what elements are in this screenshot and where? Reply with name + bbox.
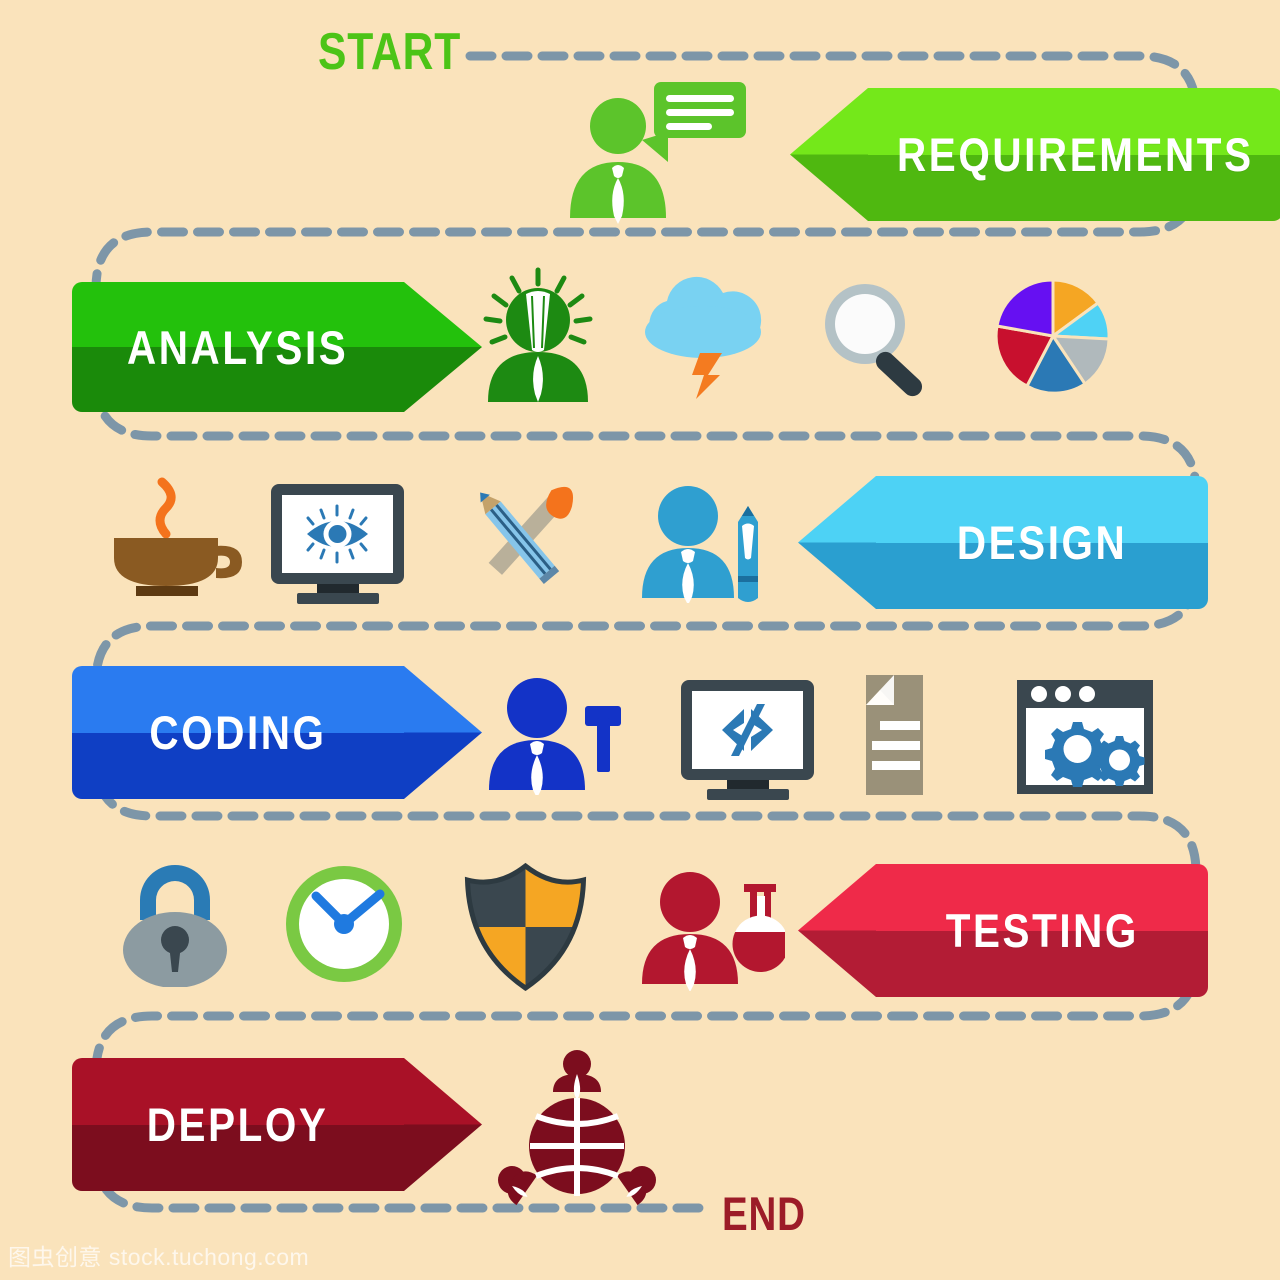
banner-tip: [404, 282, 482, 412]
stage-banner-testing[interactable]: TESTING: [798, 864, 1208, 997]
stage-label-coding: CODING: [149, 705, 326, 760]
stage-banner-analysis[interactable]: ANALYSIS: [72, 282, 482, 412]
coffee-cup-icon: [100, 476, 250, 601]
stage-label-deploy: DEPLOY: [147, 1097, 329, 1152]
pie-chart-icon: [993, 276, 1113, 396]
banner-tip: [404, 666, 482, 799]
shield-icon: [463, 862, 588, 992]
stage-banner-requirements[interactable]: REQUIREMENTS: [790, 88, 1210, 221]
banner-tip: [798, 476, 876, 609]
magnifier-icon: [815, 278, 945, 398]
banner-tip: [798, 864, 876, 997]
banner-body: DEPLOY: [72, 1058, 404, 1191]
clock-icon: [282, 862, 407, 987]
start-label: START: [318, 22, 461, 82]
banner-body: TESTING: [876, 864, 1208, 997]
stage-banner-coding[interactable]: CODING: [72, 666, 482, 799]
stage-label-analysis: ANALYSIS: [127, 320, 348, 375]
stage-banner-deploy[interactable]: DEPLOY: [72, 1058, 482, 1191]
banner-body: ANALYSIS: [72, 282, 404, 412]
person-chat-icon: [560, 78, 760, 228]
lightbulb-person-icon: [478, 266, 598, 406]
infographic-canvas: START END REQUIREMENTS ANALYSIS: [0, 0, 1280, 1280]
banner-body: REQUIREMENTS: [868, 88, 1280, 221]
pencil-brush-icon: [450, 478, 590, 603]
brainstorm-cloud-icon: [638, 275, 768, 400]
banner-tip: [404, 1058, 482, 1191]
banner-body: CODING: [72, 666, 404, 799]
banner-tip: [790, 88, 868, 221]
watermark: 图虫创意 stock.tuchong.com: [8, 1238, 309, 1272]
document-icon: [848, 673, 953, 798]
monitor-eye-icon: [265, 480, 410, 605]
stage-label-requirements: REQUIREMENTS: [897, 127, 1254, 182]
stage-label-design: DESIGN: [957, 515, 1127, 570]
designer-person-icon: [640, 478, 770, 603]
padlock-icon: [118, 862, 233, 987]
developer-hammer-icon: [487, 670, 622, 795]
monitor-code-icon: [675, 676, 820, 801]
banner-body: DESIGN: [876, 476, 1208, 609]
browser-gears-icon: [1015, 678, 1155, 796]
stage-label-testing: TESTING: [945, 903, 1138, 958]
tester-flask-icon: [640, 866, 785, 991]
end-label: END: [722, 1186, 806, 1241]
globe-network-icon: [492, 1046, 662, 1206]
stage-banner-design[interactable]: DESIGN: [798, 476, 1208, 609]
